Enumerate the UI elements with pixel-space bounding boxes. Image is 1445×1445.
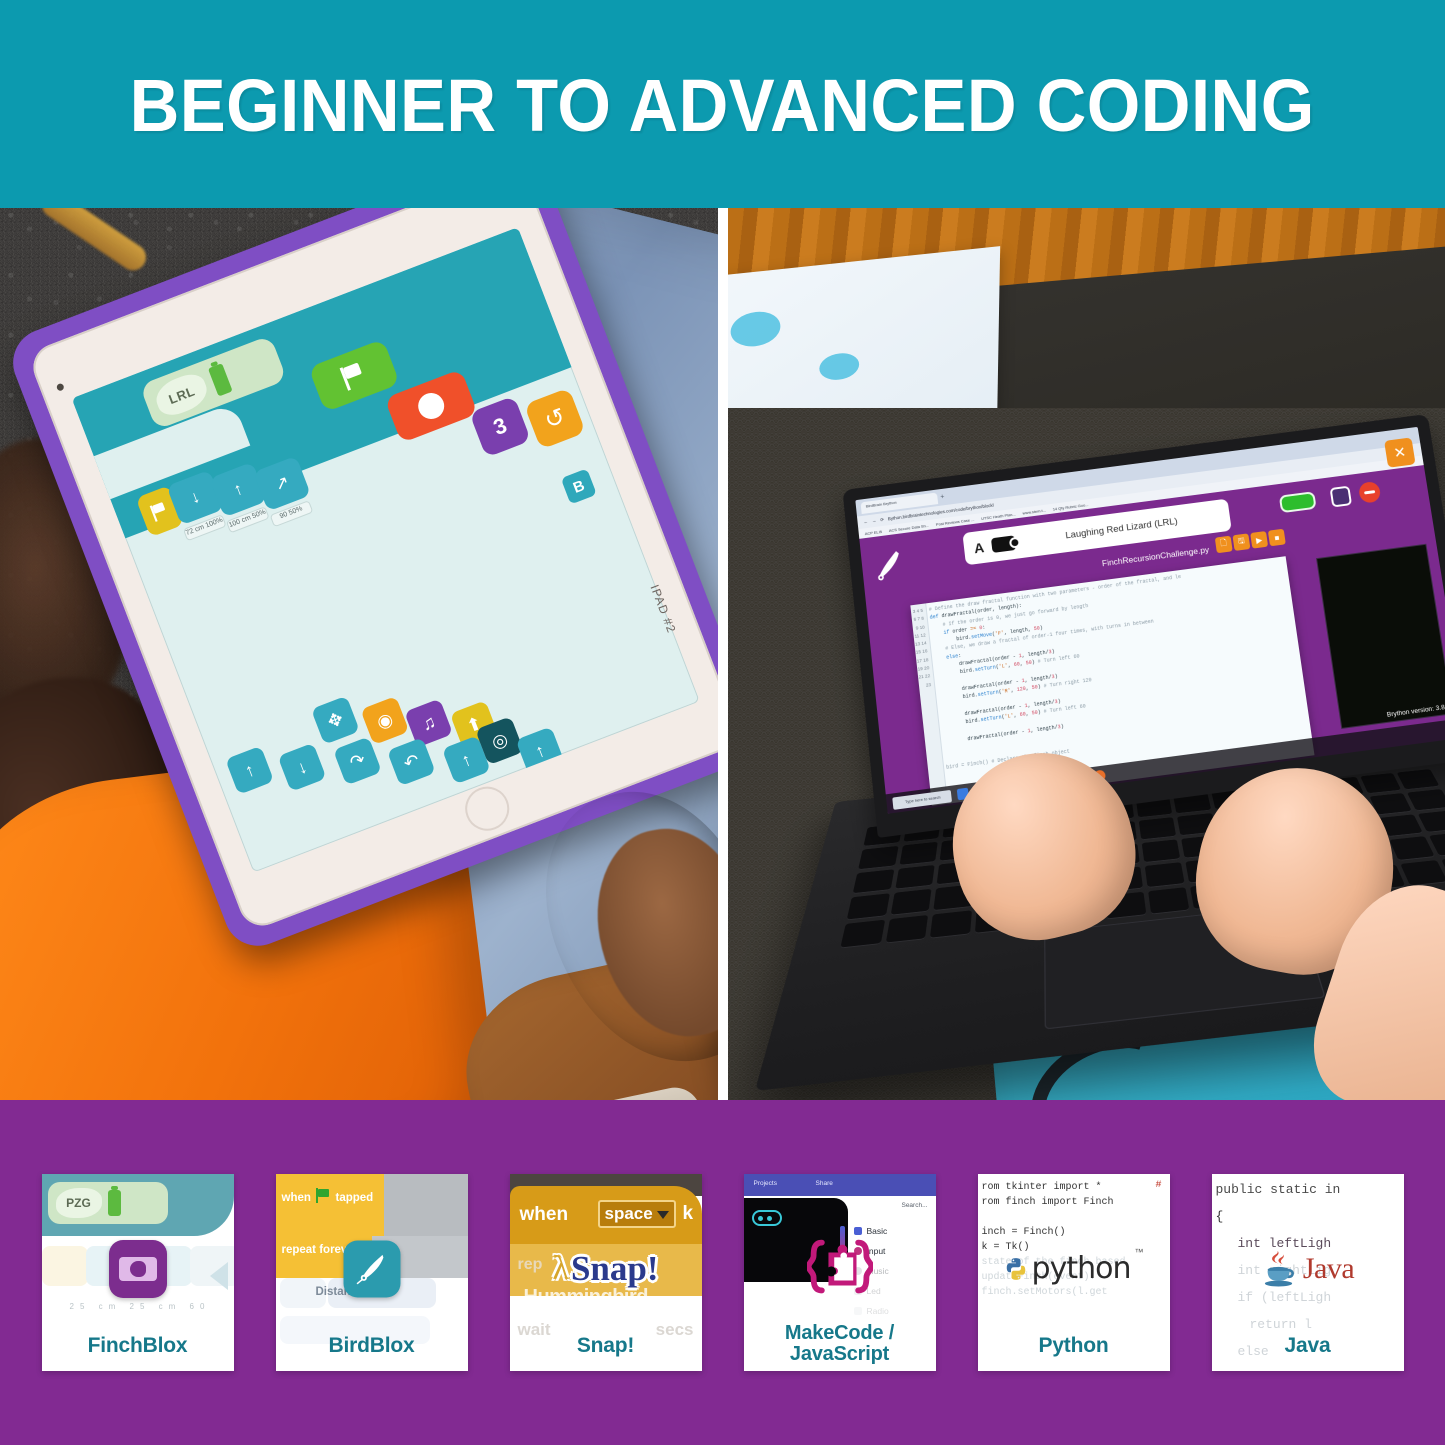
palette-block-turn-right[interactable]: ↷ (333, 736, 382, 785)
grid-icon (854, 1227, 862, 1235)
birdblox-tapped-text: tapped (336, 1192, 374, 1204)
snap-logo-icon: λ Snap! (541, 1240, 671, 1298)
jv-l0: public static in (1216, 1182, 1341, 1197)
hummingbird-glyph (355, 1252, 389, 1286)
palette-block-turn-left[interactable]: ↶ (387, 737, 436, 786)
card-label-line2: JavaScript (744, 1344, 936, 1365)
flag-icon (150, 501, 170, 522)
page-title: BEGINNER TO ADVANCED CODING (130, 69, 1315, 143)
py-l2: rom finch import Finch (982, 1197, 1114, 1208)
card-label-snap: Snap! (510, 1335, 702, 1357)
toolbox-item-basic[interactable]: Basic (854, 1226, 888, 1236)
editor-code-text[interactable]: # Define the draw fractal function with … (928, 560, 1306, 772)
block-param-3: 90 50% (270, 500, 314, 527)
toolbox-item-radio[interactable]: Radio (854, 1306, 889, 1316)
open-file-button[interactable]: 🗋 (1215, 536, 1233, 554)
snap-wordmark: Snap! (571, 1249, 659, 1289)
photo-strip: LRL 3 ↺ B (0, 208, 1445, 1100)
radio-icon (854, 1307, 862, 1315)
key[interactable] (899, 842, 938, 866)
finchblox-dimension-text: 25 cm 25 cm 60 (70, 1302, 211, 1311)
fullscreen-button[interactable]: ✕ (1384, 437, 1416, 467)
lambda-icon: λ (552, 1250, 569, 1288)
card-label-python: Python (978, 1335, 1170, 1357)
birdbrain-logo-icon (871, 547, 908, 585)
poster-root: BEGINNER TO ADVANCED CODING (0, 0, 1445, 1445)
snap-k-text: k (683, 1203, 694, 1225)
key[interactable] (1389, 836, 1435, 861)
snap-key-value: space (605, 1204, 653, 1224)
toolbox-label: Basic (867, 1226, 888, 1236)
java-wordmark: Java (1303, 1252, 1354, 1286)
key[interactable] (1144, 862, 1185, 888)
key[interactable] (852, 869, 893, 894)
editor-toolbar[interactable]: 🗋 🖫 ▶ ■ (1215, 529, 1286, 554)
finchblox-robot-pill: PZG (48, 1182, 168, 1224)
robot-name-label: Laughing Red Lizard (LRL) (1023, 511, 1221, 547)
output-console[interactable] (1316, 544, 1445, 729)
laptop-lid: BirdBrain Brython + ← → ⟳ Bython.birdbra… (842, 414, 1445, 838)
py-l1: rom tkinter import * (982, 1182, 1102, 1193)
card-label-line1: MakeCode / (744, 1323, 936, 1344)
robot-name-badge: LRL (151, 370, 212, 420)
chevron-down-icon (657, 1211, 669, 1219)
java-cup-glyph (1261, 1249, 1299, 1289)
laptop-screen[interactable]: BirdBrain Brython + ← → ⟳ Bython.birdbra… (855, 427, 1445, 814)
mat-splash-1 (730, 309, 780, 348)
photo-child-with-tablet: LRL 3 ↺ B (0, 208, 718, 1100)
palette-block-arrow-down[interactable]: ↓ (278, 743, 327, 792)
python-hash-marker: # (1155, 1180, 1161, 1191)
language-card-row: PZG 25 cm 25 cm 60 FinchBlox (0, 1100, 1445, 1445)
palette-block-move-cross[interactable]: ✥ (311, 696, 360, 745)
snap-repeat-text: rep (518, 1256, 543, 1274)
bookmark-item[interactable]: ACP ELI5 (864, 529, 882, 536)
photo-student-with-laptop: DELL (728, 208, 1445, 1100)
run-button[interactable] (308, 339, 400, 412)
makecode-glyph (807, 1237, 873, 1295)
open-file-label: FinchRecursionChallenge.py (1101, 544, 1209, 568)
card-java[interactable]: public static in { int leftLigh int righ… (1212, 1174, 1404, 1371)
green-flag-icon (316, 1188, 330, 1203)
py-l3: inch = Finch() (982, 1227, 1066, 1238)
card-label-java: Java (1212, 1335, 1404, 1357)
makecode-puzzle-icon (807, 1237, 873, 1300)
card-label-finchblox: FinchBlox (42, 1335, 234, 1357)
level-badge[interactable]: B (561, 468, 597, 504)
key[interactable] (885, 915, 928, 943)
birdblox-hummingbird-icon (343, 1240, 400, 1297)
palette-block-arrow-up-3[interactable]: ↑ (515, 726, 564, 775)
makecode-search-label: Search... (901, 1202, 927, 1209)
snap-when-text: when (520, 1204, 569, 1226)
top-banner: BEGINNER TO ADVANCED CODING (0, 0, 1445, 208)
card-label-makecode: MakeCode / JavaScript (744, 1323, 936, 1365)
key[interactable] (1418, 810, 1445, 833)
stop-button[interactable] (384, 369, 478, 443)
reload-icon[interactable]: ⟳ (880, 517, 884, 523)
ghost-block (42, 1246, 88, 1286)
jv-l4: if (leftLigh (1216, 1290, 1332, 1305)
disconnect-button[interactable] (1358, 481, 1382, 504)
birdblox-canvas-gray (384, 1174, 468, 1236)
toolbox-label: Radio (867, 1306, 889, 1316)
block-param-1: 72 cm 100% (183, 514, 227, 541)
key[interactable] (1407, 789, 1445, 811)
key[interactable] (847, 894, 890, 921)
key[interactable] (1138, 817, 1176, 840)
key[interactable] (1141, 839, 1180, 863)
mat-splash-2 (819, 351, 859, 381)
jv-l5: return l (1216, 1317, 1312, 1332)
finch-device-icon (991, 535, 1016, 553)
makecode-projects-label: Projects (754, 1180, 777, 1187)
robot-connection-pill[interactable]: LRL (139, 335, 287, 430)
mode-letter: A (973, 539, 985, 556)
front-camera-icon (56, 383, 65, 392)
battery-icon (108, 1190, 121, 1216)
trademark-mark: ™ (1135, 1247, 1144, 1257)
palette-block-arrow-up[interactable]: ↑ (225, 746, 274, 795)
bottom-purple-band: PZG 25 cm 25 cm 60 FinchBlox (0, 1100, 1445, 1445)
key[interactable] (1360, 773, 1402, 794)
key[interactable] (890, 889, 932, 916)
forward-icon[interactable]: → (872, 518, 877, 523)
left-arrow-icon (210, 1262, 228, 1290)
python-snake-glyph (1004, 1249, 1028, 1289)
makecode-share-label: Share (816, 1180, 833, 1187)
key[interactable] (1397, 769, 1439, 790)
snap-key-dropdown[interactable]: space (598, 1200, 676, 1228)
undo-button[interactable]: ↺ (524, 388, 586, 450)
save-file-button[interactable]: 🖫 (1232, 533, 1250, 551)
connect-status-button[interactable] (1279, 491, 1317, 513)
green-flag-icon (340, 360, 369, 390)
card-makecode-javascript[interactable]: Projects Share Search... Basic (744, 1174, 936, 1371)
finchblox-icon (109, 1240, 167, 1298)
battery-icon (208, 363, 233, 396)
block-param-2: 100 cm 50% (226, 506, 270, 533)
card-python[interactable]: rom tkinter import * rom finch import Fi… (978, 1174, 1170, 1371)
settings-dial-button[interactable] (1330, 486, 1353, 508)
finchblox-robot-name: PZG (56, 1188, 102, 1218)
stop-code-button[interactable]: ■ (1268, 529, 1286, 547)
card-snap[interactable]: when space k rep Hummingbird wait secs λ… (510, 1174, 702, 1371)
key[interactable] (895, 865, 935, 890)
photo-divider (718, 208, 728, 1100)
palette-block-lightbulb[interactable]: ◉ (360, 696, 409, 745)
back-icon[interactable]: ← (863, 519, 868, 524)
python-wordmark: python (1032, 1251, 1131, 1286)
card-finchblox[interactable]: PZG 25 cm 25 cm 60 FinchBlox (42, 1174, 234, 1371)
birdblox-when-text: when (282, 1192, 311, 1204)
new-tab-button[interactable]: + (940, 494, 945, 501)
key[interactable] (930, 910, 972, 938)
card-label-birdblox: BirdBlox (276, 1335, 468, 1357)
repeat-count-button[interactable]: 3 (469, 396, 531, 458)
java-logo-icon: Java (1261, 1249, 1354, 1289)
makecode-menu-bar: Projects Share (744, 1174, 936, 1196)
key[interactable] (1400, 860, 1445, 886)
jv-l1: { (1216, 1209, 1224, 1224)
card-birdblox[interactable]: when tapped repeat forever Distance CM (276, 1174, 468, 1371)
key[interactable] (858, 846, 898, 870)
key[interactable] (840, 920, 884, 949)
key[interactable] (1148, 887, 1190, 914)
run-code-button[interactable]: ▶ (1250, 531, 1268, 549)
python-logo-icon: python ™ (1004, 1247, 1144, 1291)
microbit-icon (752, 1210, 782, 1226)
birdblox-hat-block (276, 1174, 384, 1236)
